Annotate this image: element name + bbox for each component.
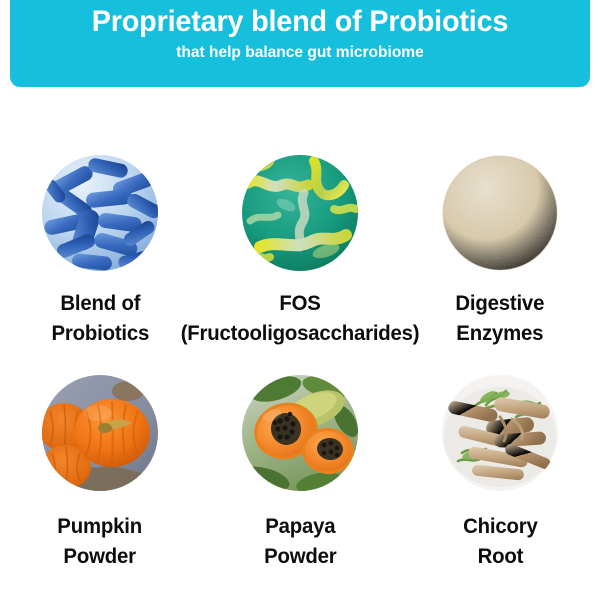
fos-microscopy-photo bbox=[242, 155, 358, 271]
ingredient-card-fos[interactable]: FOS (Fructooligosaccharides) bbox=[200, 140, 400, 368]
ingredient-card-pumpkin[interactable]: Pumpkin Powder bbox=[0, 368, 200, 596]
infographic-page: Proprietary blend of Probiotics that hel… bbox=[0, 0, 600, 600]
ingredient-grid: Blend of Probiotics bbox=[0, 140, 600, 596]
ingredient-label: FOS (Fructooligosaccharides) bbox=[181, 289, 420, 349]
papaya-photo bbox=[242, 375, 358, 491]
ingredient-card-chicory-root[interactable]: Chicory Root bbox=[400, 368, 600, 596]
ingredient-label: Chicory Root bbox=[463, 512, 537, 572]
pumpkin-photo bbox=[42, 375, 158, 491]
ingredient-card-probiotics[interactable]: Blend of Probiotics bbox=[0, 140, 200, 368]
digestive-enzyme-powder-photo bbox=[442, 155, 558, 271]
ingredient-label: Digestive Enzymes bbox=[456, 289, 545, 349]
page-title: Proprietary blend of Probiotics bbox=[22, 4, 579, 40]
header-banner: Proprietary blend of Probiotics that hel… bbox=[10, 0, 590, 87]
ingredient-label: Pumpkin Powder bbox=[58, 512, 143, 572]
probiotic-bacteria-photo bbox=[42, 155, 158, 271]
ingredient-card-papaya[interactable]: Papaya Powder bbox=[200, 368, 400, 596]
ingredient-label: Papaya Powder bbox=[264, 512, 336, 572]
ingredient-card-digestive-enzymes[interactable]: Digestive Enzymes bbox=[400, 140, 600, 368]
page-subtitle: that help balance gut microbiome bbox=[19, 42, 582, 64]
chicory-root-photo bbox=[442, 375, 558, 491]
ingredient-label: Blend of Probiotics bbox=[51, 289, 149, 349]
